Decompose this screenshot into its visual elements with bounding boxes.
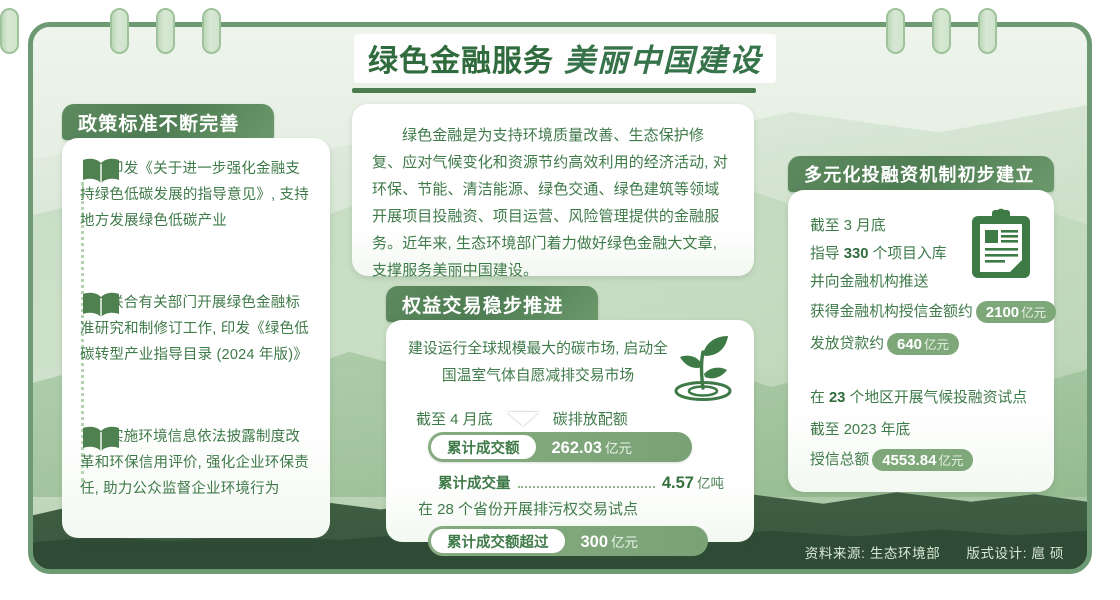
- total-credit-label: 授信总额: [810, 452, 869, 468]
- stat-turnover-unit: 亿元: [605, 441, 632, 456]
- stat-volume-unit: 亿吨: [697, 472, 724, 492]
- stat-turnover-label: 累计成交额: [431, 435, 536, 459]
- binder-ring-icon: [202, 8, 221, 54]
- title-plate: 绿色金融服务美丽中国建设: [354, 34, 776, 83]
- right-panel-card: 截至 3 月底 指导 330 个项目入库 并向金融机构推送 获得金融机构授信金额…: [788, 190, 1054, 492]
- title-primary: 绿色金融服务: [368, 44, 554, 79]
- stat-turnover-pill: 累计成交额 262.03亿元: [428, 432, 692, 462]
- stat-pilot-pill: 累计成交额超过 300亿元: [428, 526, 708, 556]
- stat-turnover-value: 262.03亿元: [536, 437, 646, 458]
- open-book-icon: [80, 424, 122, 454]
- right-line-push: 并向金融机构推送: [810, 270, 928, 291]
- title-underline: [352, 88, 756, 93]
- open-book-icon: [80, 156, 122, 186]
- right-line-projects: 指导 330 个项目入库: [810, 242, 947, 263]
- projects-prefix: 指导: [810, 246, 840, 262]
- row-header-date: 截至 4 月底: [416, 408, 493, 429]
- stat-volume-row: 累计成交量 4.57亿吨: [438, 472, 724, 493]
- binder-ring-icon: [886, 8, 905, 54]
- loans-label: 发放贷款约: [810, 336, 884, 352]
- list-item: 联合有关部门开展绿色金融标准研究和制修订工作, 印发《绿色低碳转型产业指导目录 …: [80, 290, 314, 368]
- sprout-icon: [668, 330, 738, 402]
- intro-paragraph: 绿色金融是为支持环境质量改善、生态保护修复、应对气候变化和资源节约高效利用的经济…: [352, 104, 754, 284]
- triangle-down-icon: [507, 412, 539, 426]
- stat-pilot-value: 300亿元: [565, 531, 653, 552]
- left-panel-card: 印发《关于进一步强化金融支持绿色低碳发展的指导意见》, 支持地方发展绿色低碳产业…: [62, 138, 330, 538]
- right-line-loans: 发放贷款约640亿元: [810, 332, 959, 355]
- loans-chip: 640亿元: [887, 333, 959, 355]
- right-line-credit: 获得金融机构授信金额约2100亿元: [810, 300, 1056, 323]
- stat-volume-value: 4.57: [662, 474, 694, 493]
- right-line-total-credit: 授信总额4553.84亿元: [810, 448, 973, 471]
- left-panel-heading: 政策标准不断完善: [62, 104, 274, 140]
- binder-ring-icon: [156, 8, 175, 54]
- dot-leader: [518, 486, 655, 488]
- carbon-market-row-header: 截至 4 月底 碳排放配额: [416, 408, 726, 429]
- right-line-date2: 截至 2023 年底: [810, 418, 910, 439]
- mid-panel-heading: 权益交易稳步推进: [386, 286, 598, 322]
- pilot-prefix: 在: [810, 390, 825, 406]
- pollution-pilot-line: 在 28 个省份开展排污权交易试点: [418, 498, 638, 519]
- page-title: 绿色金融服务美丽中国建设: [330, 34, 800, 90]
- mid-panel-card: 建设运行全球规模最大的碳市场, 启动全国温室气体自愿减排交易市场 截至 4 月底…: [386, 320, 754, 542]
- footer-source: 资料来源: 生态环境部: [805, 542, 941, 562]
- title-secondary: 美丽中国建设: [564, 43, 762, 79]
- footer-credits: 资料来源: 生态环境部 版式设计: 扈 硕: [805, 542, 1064, 562]
- pilot-suffix: 个地区开展气候投融资试点: [850, 390, 1028, 406]
- binder-ring-icon: [978, 8, 997, 54]
- intro-card: 绿色金融是为支持环境质量改善、生态保护修复、应对气候变化和资源节约高效利用的经济…: [352, 104, 754, 276]
- binder-ring-icon: [932, 8, 951, 54]
- stat-volume-label: 累计成交量: [438, 472, 511, 493]
- clipboard-icon: [970, 208, 1032, 280]
- total-credit-chip: 4553.84亿元: [872, 449, 973, 471]
- stat-pilot-unit: 亿元: [611, 535, 638, 550]
- right-line-climate-pilot: 在 23 个地区开展气候投融资试点: [810, 386, 1027, 407]
- right-panel-heading: 多元化投融资机制初步建立: [788, 156, 1054, 192]
- credit-label: 获得金融机构授信金额约: [810, 304, 973, 320]
- footer-design: 版式设计: 扈 硕: [966, 542, 1064, 562]
- right-line-date: 截至 3 月底: [810, 214, 886, 235]
- row-header-metric: 碳排放配额: [553, 408, 628, 429]
- credit-chip: 2100亿元: [976, 301, 1056, 323]
- projects-count: 330: [844, 246, 869, 262]
- list-item: 印发《关于进一步强化金融支持绿色低碳发展的指导意见》, 支持地方发展绿色低碳产业: [80, 156, 314, 234]
- stat-pilot-label: 累计成交额超过: [431, 529, 565, 553]
- mid-panel-lead: 建设运行全球规模最大的碳市场, 启动全国温室气体自愿减排交易市场: [408, 336, 668, 390]
- binder-ring-icon: [110, 8, 129, 54]
- projects-suffix: 个项目入库: [873, 246, 947, 262]
- pilot-count: 23: [829, 390, 845, 406]
- open-book-icon: [80, 290, 122, 320]
- list-item: 实施环境信息依法披露制度改革和环保信用评价, 强化企业环保责任, 助力公众监督企…: [80, 424, 314, 502]
- infographic-canvas: 绿色金融服务美丽中国建设 政策标准不断完善 印发《关于进一步强化金融支持绿色低碳…: [0, 0, 1120, 600]
